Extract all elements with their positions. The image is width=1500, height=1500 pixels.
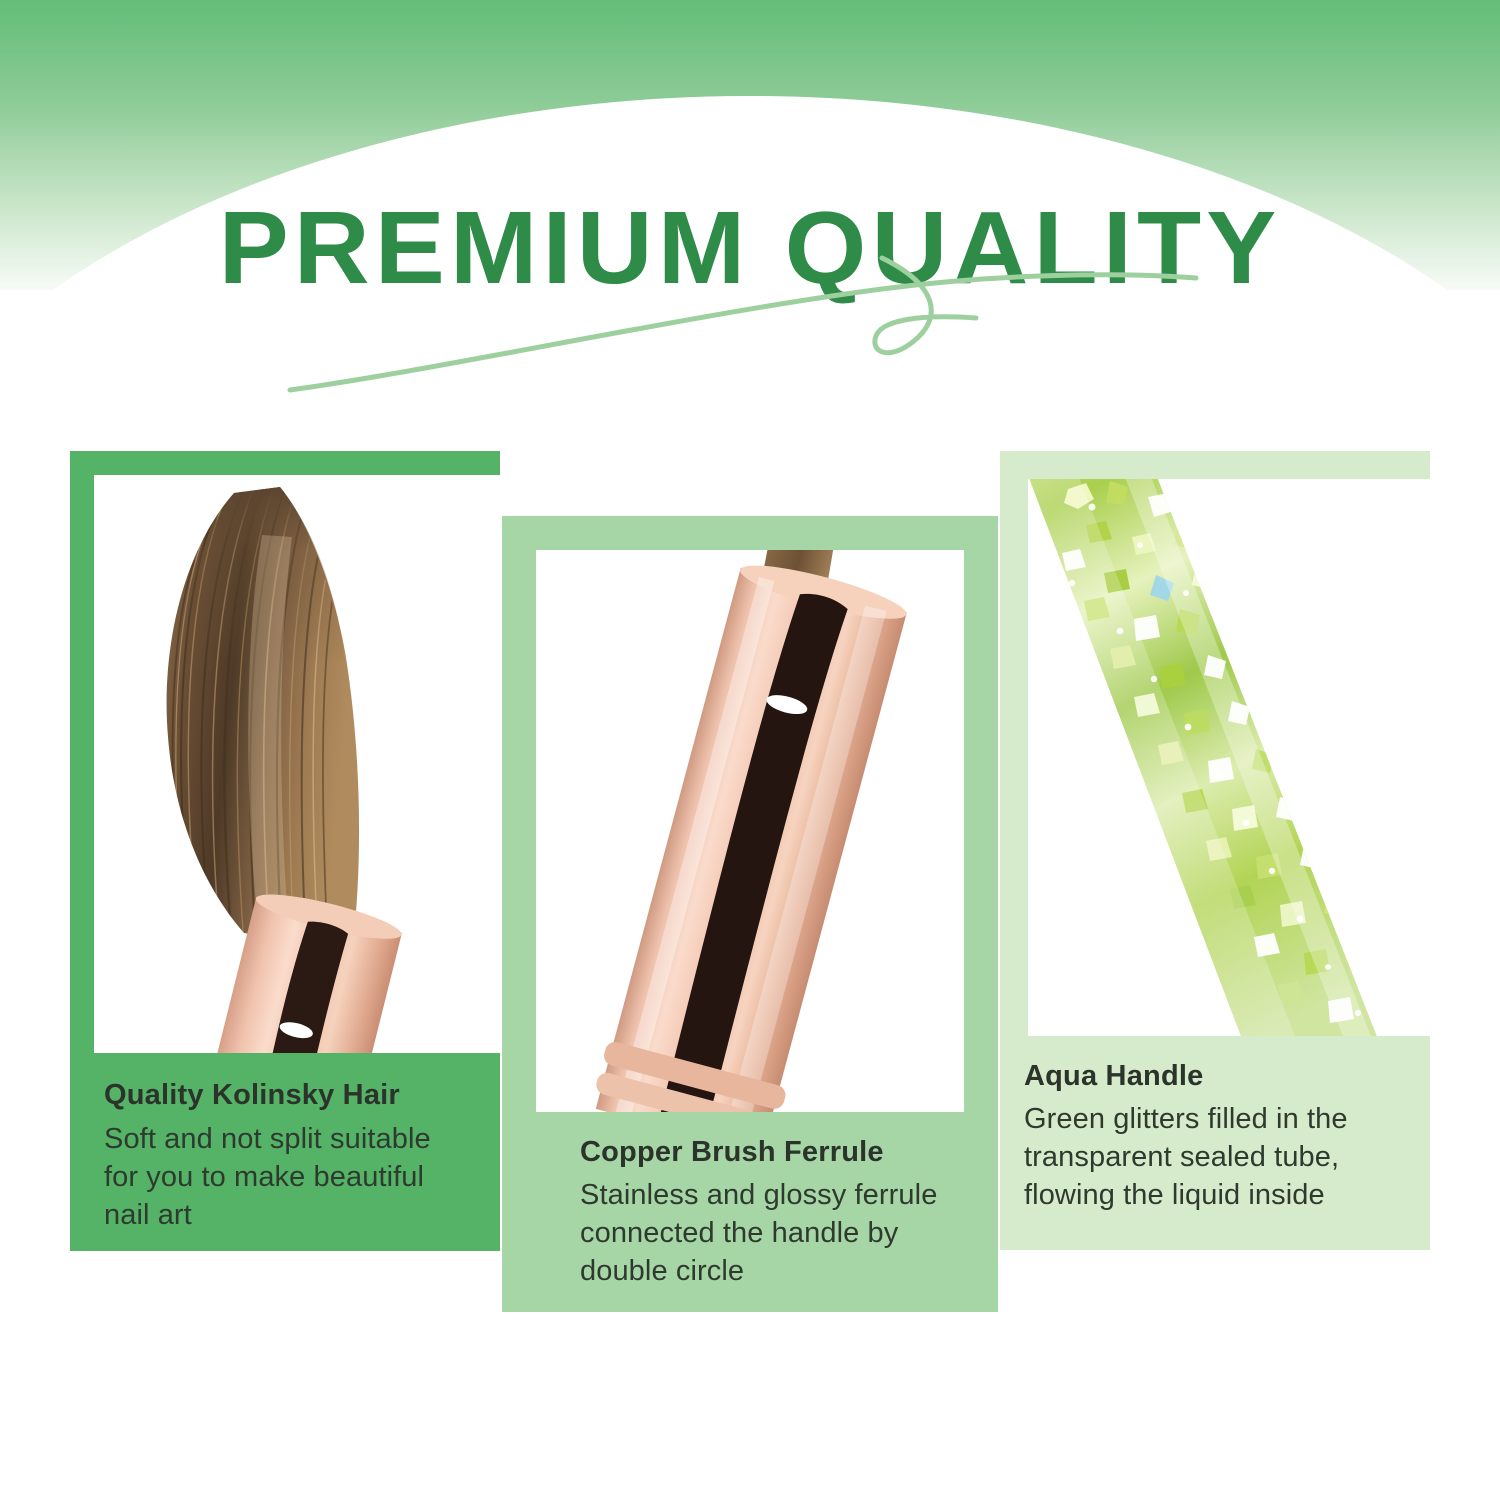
product-feature-poster: PREMIUM QUALITY — [0, 0, 1500, 1500]
feature-body: Soft and not split suitable for you to m… — [104, 1121, 466, 1234]
feature-body: Green glitters filled in the transparent… — [1024, 1101, 1396, 1214]
page-title: PREMIUM QUALITY — [219, 196, 1282, 299]
feature-card-aqua-handle: Aqua Handle Green glitters filled in the… — [1000, 451, 1430, 1250]
kolinsky-brush-illustration — [94, 475, 500, 1053]
feature-title: Quality Kolinsky Hair — [104, 1079, 466, 1112]
feature-title: Aqua Handle — [1024, 1060, 1396, 1093]
feature-caption-kolinsky-hair: Quality Kolinsky Hair Soft and not split… — [70, 1053, 500, 1251]
aqua-glitter-handle-illustration — [1028, 479, 1430, 1036]
feature-photo-aqua-handle — [1028, 479, 1430, 1036]
feature-caption-aqua-handle: Aqua Handle Green glitters filled in the… — [1000, 1036, 1430, 1250]
feature-title: Copper Brush Ferrule — [580, 1136, 958, 1169]
feature-card-kolinsky-hair: Quality Kolinsky Hair Soft and not split… — [70, 451, 500, 1251]
feature-photo-copper-ferrule — [536, 550, 964, 1112]
feature-caption-copper-ferrule: Copper Brush Ferrule Stainless and gloss… — [502, 1112, 998, 1312]
feature-photo-kolinsky-hair — [94, 475, 500, 1053]
feature-card-copper-ferrule: Copper Brush Ferrule Stainless and gloss… — [502, 516, 998, 1312]
page-title-wrap: PREMIUM QUALITY — [0, 196, 1500, 299]
feature-body: Stainless and glossy ferrule connected t… — [580, 1177, 958, 1290]
copper-ferrule-illustration — [536, 550, 964, 1112]
